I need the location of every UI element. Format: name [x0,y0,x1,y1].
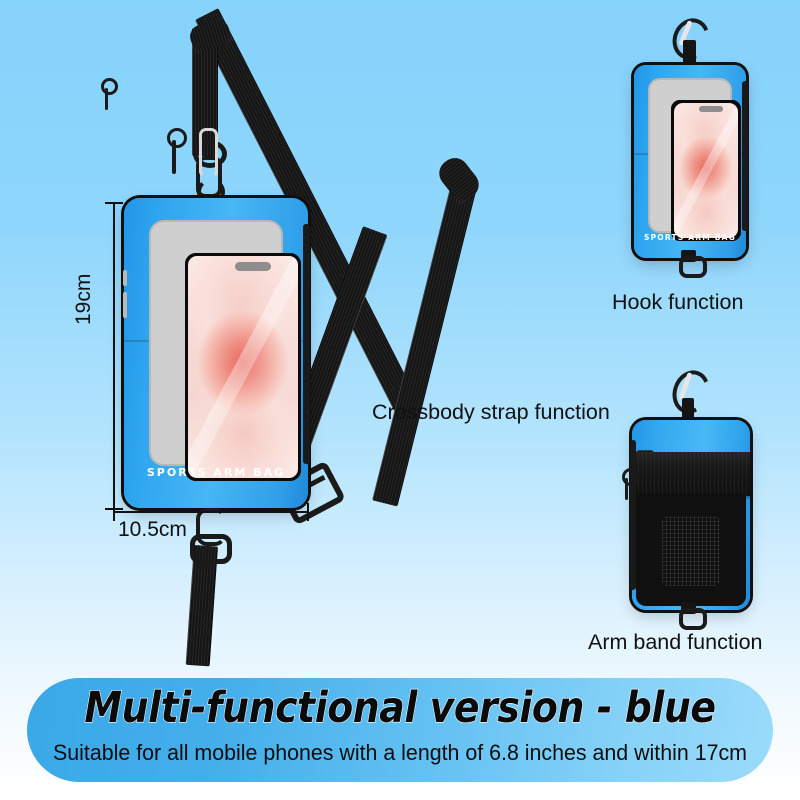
zipper-pull-cord [172,140,176,174]
phone-wallpaper [674,103,738,238]
zipper-pull-cord [105,88,108,110]
callout-hook: Hook function [612,290,743,315]
pouch-clear-window [151,222,281,464]
armband-elastic-strap [632,452,750,496]
brand-label: SPORTS ARM BAG [124,466,308,479]
callout-crossbody-strap: Crossbody strap function [372,400,610,425]
banner-subtitle: Suitable for all mobile phones with a le… [46,740,755,766]
zipper-track [303,224,310,464]
pouch-clear-window [650,80,730,231]
zipper-pull-cord [625,478,628,500]
dimension-cap-right [307,503,309,521]
screen-glare [674,103,738,238]
dimension-width-label: 10.5cm [118,518,187,542]
bottom-banner: Multi-functional version - blue Suitable… [27,678,773,782]
dimension-height-label: 19cm [72,274,96,325]
product-infographic: SPORTS ARM BAG 19cm 10.5cm [0,0,800,800]
pouch-bottom-ring [679,608,707,630]
phone-screen [671,100,741,241]
callout-armband: Arm band function [588,630,763,655]
dimension-cap-left [113,503,115,521]
phone-screen [185,253,301,481]
zipper-pull-icon [101,78,118,95]
screen-glare [188,256,298,478]
armband-mesh-texture [662,516,720,586]
phone-wallpaper [188,256,298,478]
phone-volume-button [123,292,127,318]
zipper-pull-icon [167,128,187,148]
main-phone-pouch: SPORTS ARM BAG [124,198,308,508]
phone-side-button [123,270,127,286]
pouch-bottom-ring [679,256,707,278]
brand-label: SPORTS ARM BAG [634,233,746,242]
dimension-cap-top [105,202,123,204]
zipper-track [742,81,748,231]
dynamic-island-icon [699,106,723,112]
armband-pouch-back [632,420,750,610]
dynamic-island-icon [235,262,271,271]
dimension-line-horizontal [113,511,309,513]
zipper-track [630,440,636,590]
hook-phone-pouch: SPORTS ARM BAG [634,65,746,258]
clasp-ring-bottom [190,534,232,564]
clasp-gate-top [199,128,218,178]
banner-title: Multi-functional version - blue [72,683,728,733]
dimension-line-vertical [113,202,115,510]
